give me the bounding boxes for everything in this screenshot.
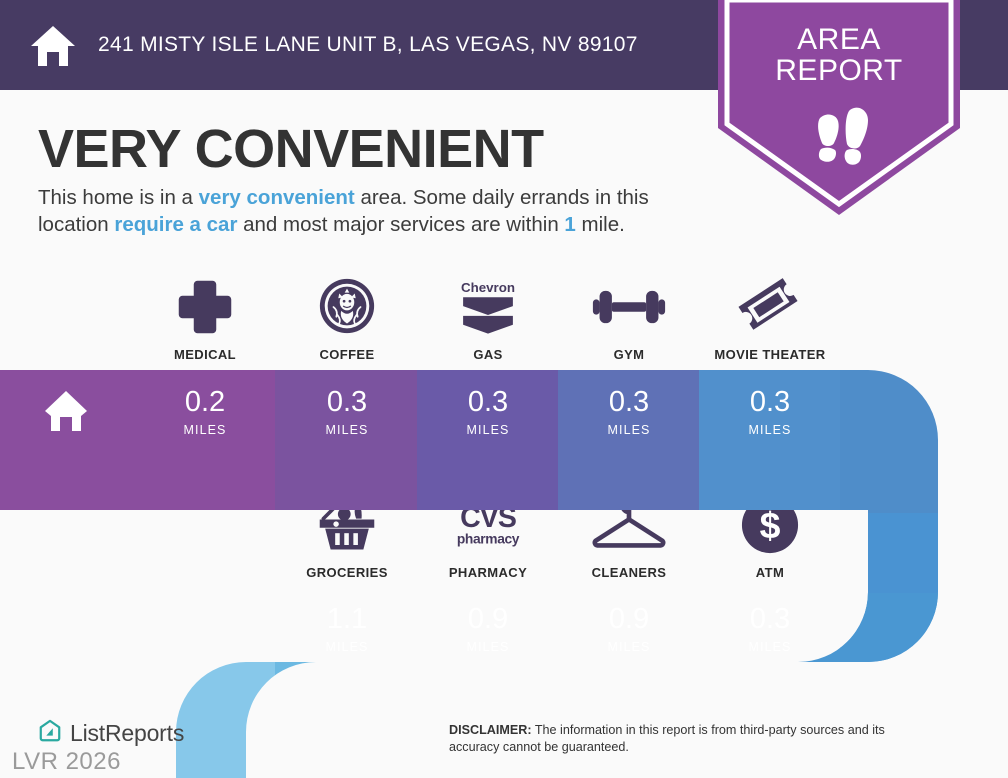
- poi-label: COFFEE: [319, 347, 374, 362]
- movie-ticket-icon: [738, 272, 802, 342]
- header-content: 241 MISTY ISLE LANE UNIT B, LAS VEGAS, N…: [30, 0, 638, 90]
- path-segment-medical: [135, 368, 275, 513]
- path-segment-coffee: [275, 368, 417, 513]
- svg-text:Chevron: Chevron: [461, 280, 515, 295]
- summary-highlight-2: require a car: [114, 213, 237, 236]
- poi-movie-theater: MOVIE THEATER: [695, 262, 845, 362]
- dumbbell-icon: [591, 272, 667, 342]
- path-segment-gas: [417, 368, 558, 513]
- area-report-page: 241 MISTY ISLE LANE UNIT B, LAS VEGAS, N…: [0, 0, 1008, 778]
- home-icon: [44, 390, 88, 437]
- listreports-logo-icon: [38, 719, 62, 748]
- chevron-logo-icon: Chevron: [456, 272, 520, 342]
- summary-part-3: and most major services are within: [237, 213, 564, 236]
- home-icon: [30, 24, 76, 68]
- icon-row-1: MEDICAL COFFEE: [0, 262, 1008, 362]
- poi-label: MEDICAL: [174, 347, 236, 362]
- banner-line-1: AREA: [797, 23, 881, 56]
- summary-highlight-1: very convenient: [199, 186, 355, 209]
- medical-cross-icon: [175, 272, 235, 342]
- banner-title: AREA REPORT: [718, 24, 960, 86]
- disclaimer: DISCLAIMER: The information in this repo…: [449, 722, 899, 756]
- poi-label: GYM: [614, 347, 645, 362]
- poi-label: GAS: [473, 347, 502, 362]
- starbucks-logo-icon: [316, 272, 378, 342]
- poi-gym: GYM: [554, 262, 704, 362]
- distance-path: [0, 368, 1008, 778]
- path-segment-groceries: [275, 593, 417, 778]
- banner-line-2: REPORT: [718, 55, 960, 86]
- disclaimer-label: DISCLAIMER:: [449, 723, 532, 737]
- area-report-banner: AREA REPORT: [718, 0, 960, 215]
- property-address: 241 MISTY ISLE LANE UNIT B, LAS VEGAS, N…: [98, 33, 638, 57]
- poi-coffee: COFFEE: [272, 262, 422, 362]
- poi-medical: MEDICAL: [130, 262, 280, 362]
- watermark: LVR 2026: [12, 748, 121, 776]
- path-segment-turn-top: [840, 368, 1008, 513]
- summary-part-1: This home is in a: [38, 186, 199, 209]
- brand-name: ListReports: [70, 720, 184, 747]
- poi-gas: Chevron GAS: [413, 262, 563, 362]
- poi-label: MOVIE THEATER: [714, 347, 825, 362]
- summary-text: This home is in a very convenient area. …: [38, 184, 718, 239]
- summary-part-4: mile.: [576, 213, 625, 236]
- summary-highlight-3: 1: [564, 213, 575, 236]
- path-segment-movie: [699, 368, 840, 513]
- listreports-brand: ListReports: [38, 719, 184, 748]
- page-title: VERY CONVENIENT: [38, 118, 544, 180]
- path-segment-left-turn: [150, 593, 275, 778]
- path-segment-gym: [558, 368, 699, 513]
